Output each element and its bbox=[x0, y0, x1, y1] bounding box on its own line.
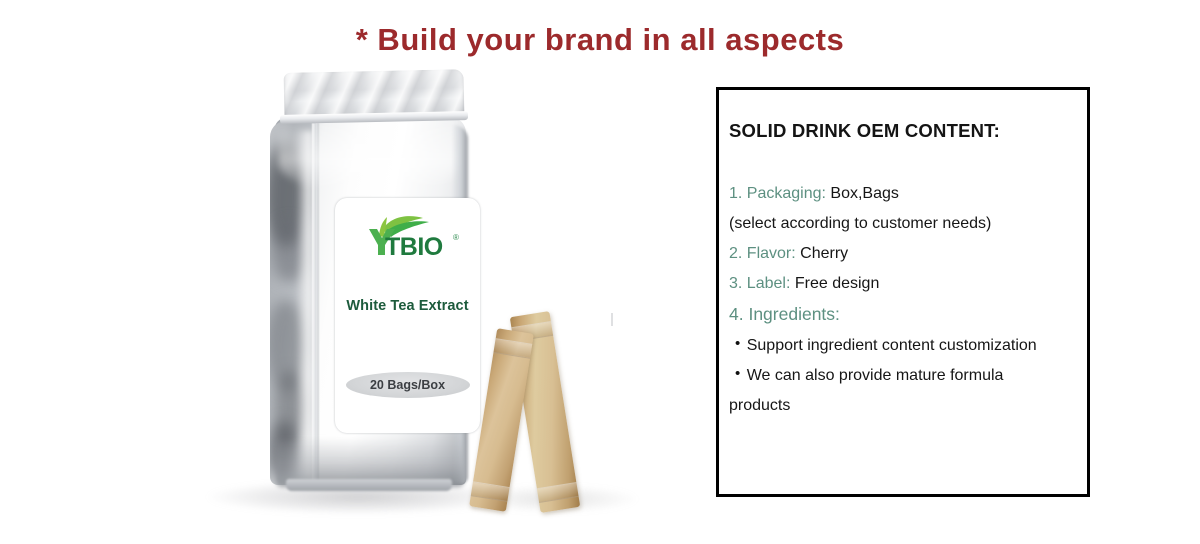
stray-mark bbox=[611, 313, 613, 326]
pouch-shoulder-highlight bbox=[278, 121, 464, 191]
ingredient-bullet-wrap: products bbox=[729, 391, 1075, 421]
spec-row-packaging: 1. Packaging: Box,Bags bbox=[729, 179, 1075, 209]
page-title: * Build your brand in all aspects bbox=[0, 22, 1200, 58]
product-marketing-image: * Build your brand in all aspects bbox=[0, 0, 1200, 544]
spec-key: 4. Ingredients: bbox=[729, 304, 840, 324]
bullet-icon: • bbox=[735, 366, 740, 381]
spec-key: 1. Packaging: bbox=[729, 185, 826, 202]
pouch-bottom-fold bbox=[286, 479, 452, 491]
svg-text:TBIO: TBIO bbox=[385, 233, 443, 260]
spec-key: 3. Label: bbox=[729, 275, 790, 292]
product-photo: TBIO ® White Tea Extract 20 Bags/Box bbox=[180, 55, 650, 525]
ingredient-bullet: • Support ingredient content customizati… bbox=[729, 331, 1075, 361]
oem-content-title: SOLID DRINK OEM CONTENT: bbox=[729, 120, 1075, 142]
spec-value: Free design bbox=[795, 275, 880, 292]
pack-count-text: 20 Bags/Box bbox=[370, 378, 445, 392]
bullet-text: We can also provide mature formula bbox=[747, 367, 1004, 384]
svg-text:®: ® bbox=[453, 233, 459, 242]
spec-value: Cherry bbox=[800, 245, 848, 262]
ingredient-bullet: • We can also provide mature formula bbox=[729, 361, 1075, 391]
ytbio-logo: TBIO ® bbox=[349, 212, 467, 260]
oem-content-box: SOLID DRINK OEM CONTENT: 1. Packaging: B… bbox=[716, 87, 1090, 497]
spec-row-ingredients: 4. Ingredients: bbox=[729, 299, 1075, 331]
spec-key: 2. Flavor: bbox=[729, 245, 796, 262]
spec-note: (select according to customer needs) bbox=[729, 215, 991, 232]
pack-count-badge: 20 Bags/Box bbox=[346, 372, 470, 398]
spec-row-flavor: 2. Flavor: Cherry bbox=[729, 239, 1075, 269]
bullet-icon: • bbox=[735, 336, 740, 351]
spec-row-packaging-note: (select according to customer needs) bbox=[729, 209, 1075, 239]
spec-value: Box,Bags bbox=[830, 185, 898, 202]
product-name: White Tea Extract bbox=[335, 298, 480, 314]
spec-row-label: 3. Label: Free design bbox=[729, 269, 1075, 299]
product-label: TBIO ® White Tea Extract 20 Bags/Box bbox=[335, 198, 480, 433]
bullet-text: Support ingredient content customization bbox=[747, 337, 1037, 354]
bullet-text-continuation: products bbox=[729, 397, 790, 414]
leaf-icon: TBIO ® bbox=[349, 212, 467, 260]
